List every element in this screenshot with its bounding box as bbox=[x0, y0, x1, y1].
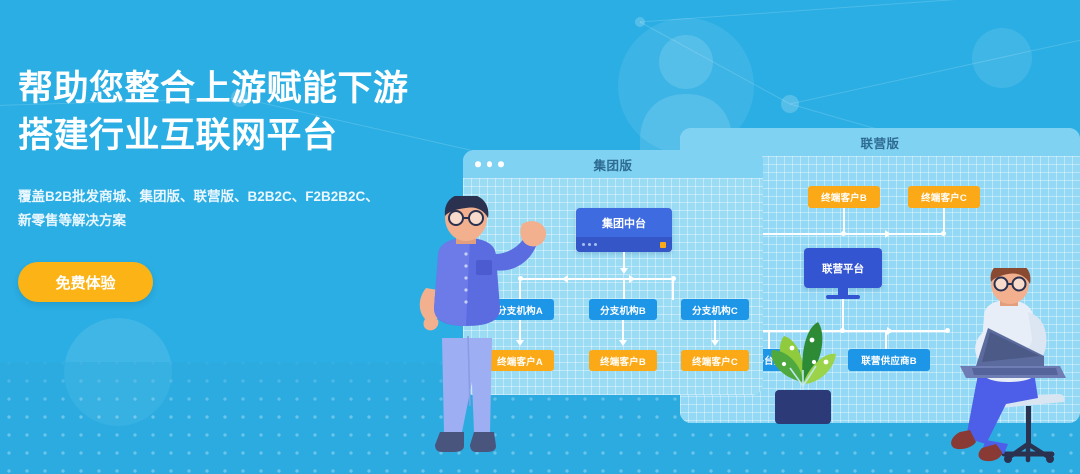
node-group-hub-label: 集团中台 bbox=[576, 208, 672, 237]
window-dot-3 bbox=[498, 161, 504, 167]
potted-plant bbox=[748, 306, 858, 424]
node-joint-customer-c[interactable]: 终端客户C bbox=[908, 186, 980, 208]
connector-joint-dot-2 bbox=[941, 231, 946, 236]
hero-background: 帮助您整合上游赋能下游 搭建行业互联网平台 覆盖B2B批发商城、集团版、联营版、… bbox=[0, 0, 1080, 474]
window-group-title: 集团版 bbox=[593, 155, 632, 174]
window-dot-2 bbox=[487, 161, 493, 167]
connector-group-arrow-left bbox=[562, 275, 568, 283]
sitting-man-with-laptop bbox=[930, 268, 1080, 474]
free-trial-button[interactable]: 免费体验 bbox=[18, 262, 153, 302]
node-branch-c[interactable]: 分支机构C bbox=[681, 299, 749, 320]
connector-joint-arrow-right-bottom bbox=[887, 327, 893, 335]
window-dot-1 bbox=[475, 161, 481, 167]
subtitle-line-2: 新零售等解决方案 bbox=[18, 209, 448, 233]
hub-strip-square-icon bbox=[660, 242, 666, 248]
connector-group-arrow-down-c bbox=[711, 340, 719, 346]
connector-joint-dot-1 bbox=[841, 231, 846, 236]
hub-strip-dots bbox=[582, 243, 597, 246]
headline-line-1: 帮助您整合上游赋能下游 bbox=[18, 66, 448, 113]
connector-group-arrow-down-hub bbox=[620, 268, 628, 274]
headline-line-2: 搭建行业互联网平台 bbox=[18, 113, 448, 160]
node-joint-customer-b[interactable]: 终端客户B bbox=[808, 186, 880, 208]
connector-joint-5 bbox=[885, 330, 887, 350]
hero-copy: 帮助您整合上游赋能下游 搭建行业互联网平台 覆盖B2B批发商城、集团版、联营版、… bbox=[18, 66, 448, 302]
standing-man-presenting bbox=[398, 196, 548, 474]
node-joint-supplier-b[interactable]: 联营供应商B bbox=[848, 349, 930, 371]
node-group-hub[interactable]: 集团中台 bbox=[576, 208, 672, 252]
node-customer-b[interactable]: 终端客户B bbox=[589, 350, 657, 371]
connector-group-drop-b bbox=[623, 278, 625, 300]
node-branch-b[interactable]: 分支机构B bbox=[589, 299, 657, 320]
subtitle-line-1: 覆盖B2B批发商城、集团版、联营版、B2B2C、F2B2B2C、 bbox=[18, 185, 448, 209]
window-joint-title: 联营版 bbox=[860, 133, 899, 152]
monitor-neck bbox=[838, 288, 848, 295]
connector-group-arrow-down-b bbox=[619, 340, 627, 346]
connector-group-drop-c bbox=[672, 278, 674, 300]
window-group-titlebar: 集团版 bbox=[463, 150, 763, 178]
connector-joint-arrow-right-top bbox=[885, 230, 891, 238]
window-controls-dots[interactable] bbox=[475, 161, 504, 167]
connector-group-arrow-right bbox=[629, 275, 635, 283]
page-title: 帮助您整合上游赋能下游 搭建行业互联网平台 bbox=[18, 66, 448, 159]
node-joint-platform[interactable]: 联营平台 bbox=[804, 248, 882, 288]
hero-subtitle: 覆盖B2B批发商城、集团版、联营版、B2B2C、F2B2B2C、 新零售等解决方… bbox=[18, 185, 448, 232]
node-group-hub-strip bbox=[576, 237, 672, 252]
node-customer-c[interactable]: 终端客户C bbox=[681, 350, 749, 371]
